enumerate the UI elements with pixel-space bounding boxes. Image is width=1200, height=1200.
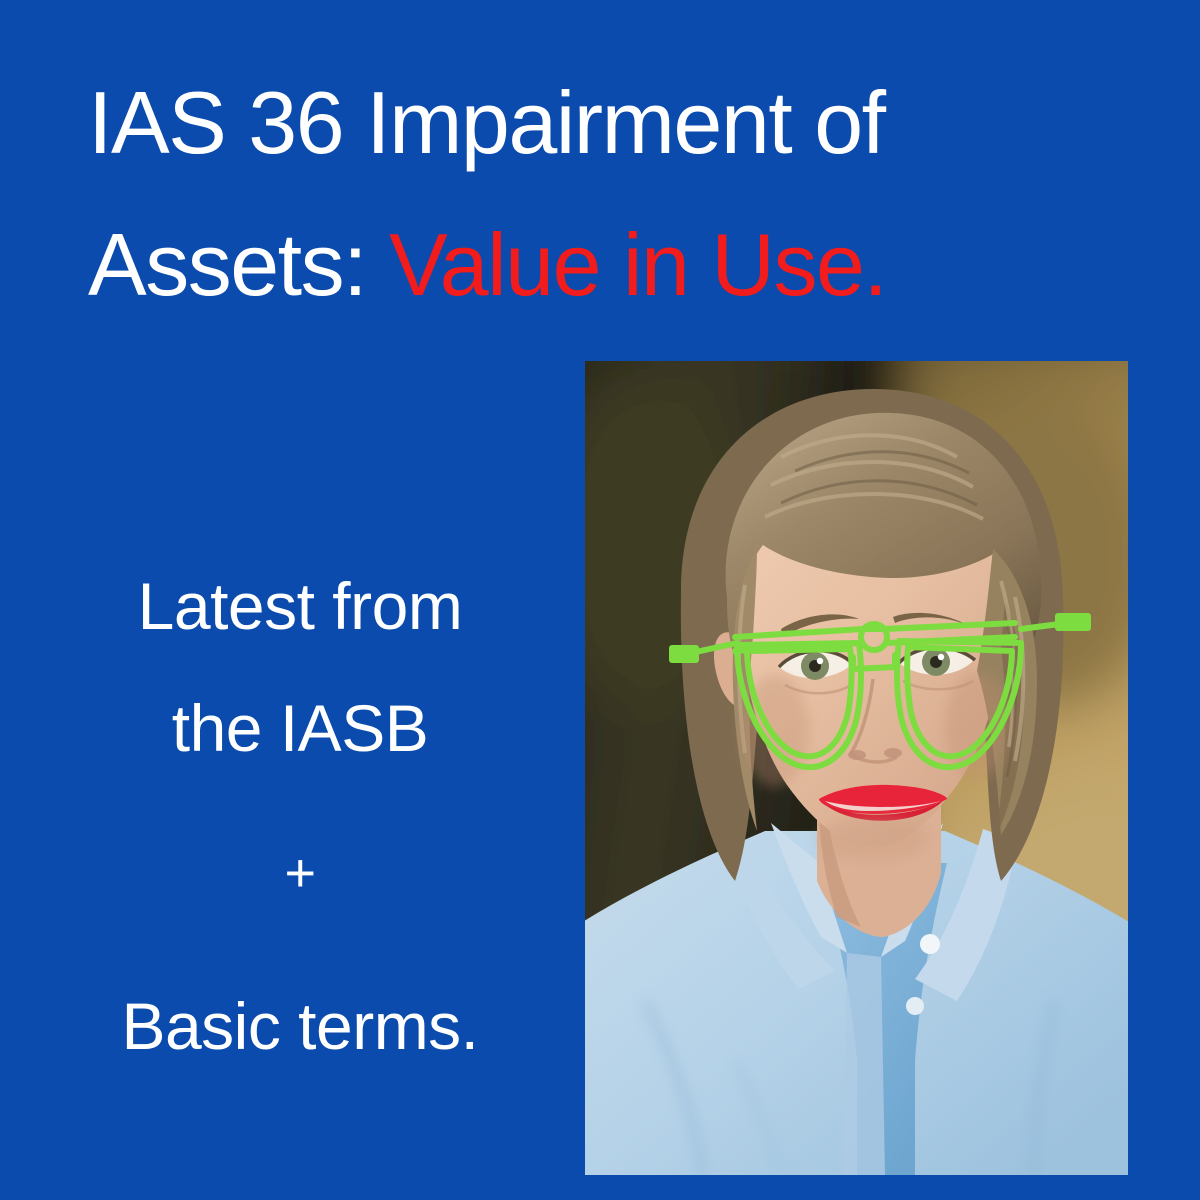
- shirt-placket: [843, 953, 885, 1175]
- subtitle-line-1: Latest from: [60, 545, 540, 667]
- title-accent-text: Value in Use.: [389, 215, 886, 314]
- portrait-photo: [585, 361, 1128, 1175]
- subtitle-spacer-top: [60, 789, 540, 843]
- shirt-button-second: [906, 997, 924, 1015]
- subtitle-block: Latest from the IASB + Basic terms.: [60, 545, 540, 1087]
- shirt-button-top: [920, 934, 940, 954]
- plus-symbol: +: [60, 843, 540, 903]
- subtitle-line-3: Basic terms.: [60, 965, 540, 1087]
- page-title: IAS 36 Impairment of Assets: Value in Us…: [88, 52, 1148, 336]
- slide-canvas: IAS 36 Impairment of Assets: Value in Us…: [0, 0, 1200, 1200]
- subtitle-line-2: the IASB: [60, 667, 540, 789]
- title-line-1: IAS 36 Impairment of: [88, 52, 1148, 194]
- subtitle-spacer-bottom: [60, 903, 540, 965]
- portrait-illustration: [585, 361, 1128, 1175]
- title-line-2-plain: Assets:: [88, 215, 389, 314]
- title-line-2: Assets: Value in Use.: [88, 194, 1148, 336]
